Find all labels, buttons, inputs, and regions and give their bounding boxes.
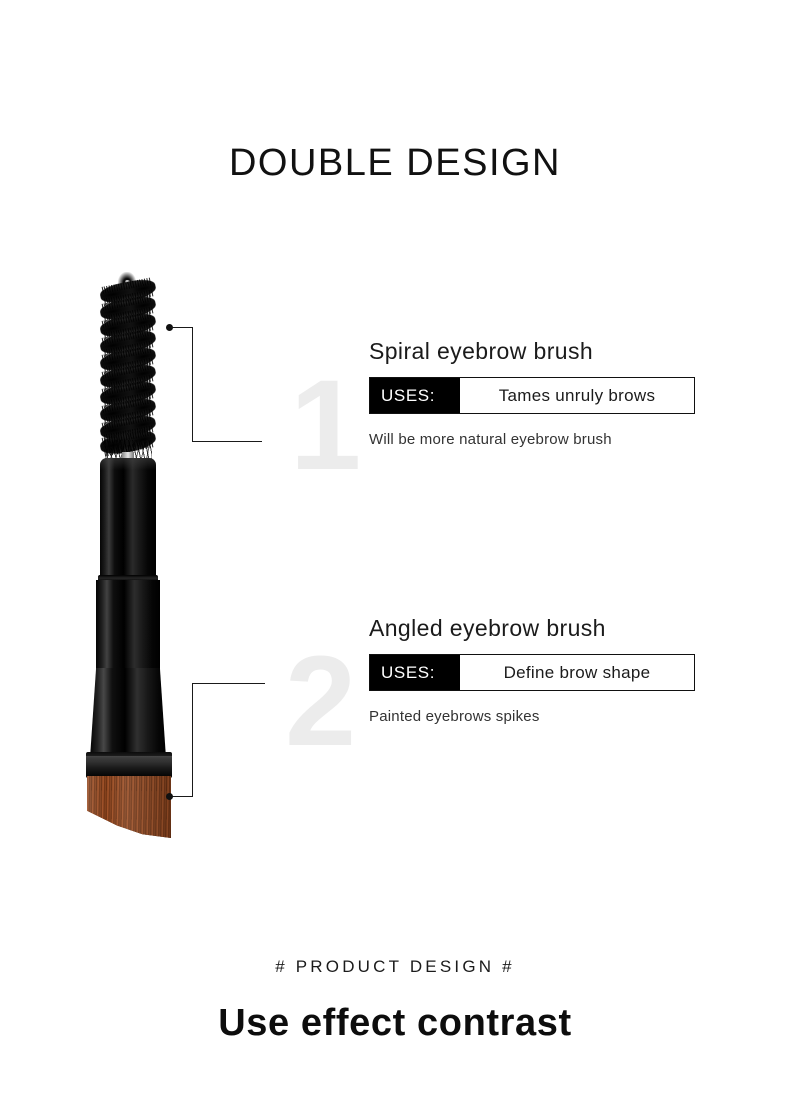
uses-box: USES: Define brow shape — [369, 654, 695, 691]
uses-label: USES: — [370, 655, 460, 690]
handle-tapered-neck — [90, 668, 166, 758]
brush-ferrule — [86, 752, 172, 778]
leader-dot — [166, 793, 173, 800]
page-title: DOUBLE DESIGN — [0, 142, 790, 185]
leader-segment — [171, 327, 193, 328]
footer-title: Use effect contrast — [0, 1002, 790, 1045]
callout-block-2: Angled eyebrow brush USES: Define brow s… — [369, 615, 699, 725]
callout-block-1: Spiral eyebrow brush USES: Tames unruly … — [369, 338, 699, 448]
uses-value: Define brow shape — [460, 655, 694, 690]
uses-box: USES: Tames unruly brows — [369, 377, 695, 414]
leader-line-1 — [166, 322, 266, 448]
uses-label: USES: — [370, 378, 460, 413]
handle-upper-barrel — [100, 458, 156, 580]
callout-sub-caption: Painted eyebrows spikes — [369, 708, 699, 725]
handle-lower-barrel — [96, 580, 160, 670]
callout-number-1: 1 — [290, 362, 361, 490]
footer-tagline: # PRODUCT DESIGN # — [0, 957, 790, 977]
spiral-brush-head — [98, 280, 158, 460]
callout-heading: Angled eyebrow brush — [369, 615, 699, 642]
callout-sub-caption: Will be more natural eyebrow brush — [369, 431, 699, 448]
leader-segment — [192, 327, 193, 442]
callout-heading: Spiral eyebrow brush — [369, 338, 699, 365]
leader-segment — [192, 683, 265, 684]
uses-value: Tames unruly brows — [460, 378, 694, 413]
leader-segment — [192, 683, 193, 797]
angled-brush-bristles — [87, 776, 171, 838]
leader-line-2 — [166, 678, 268, 804]
infographic-page: DOUBLE DESIGN — [0, 0, 790, 1103]
callout-number-2: 2 — [285, 638, 356, 766]
leader-segment — [171, 796, 193, 797]
leader-segment — [192, 441, 262, 442]
